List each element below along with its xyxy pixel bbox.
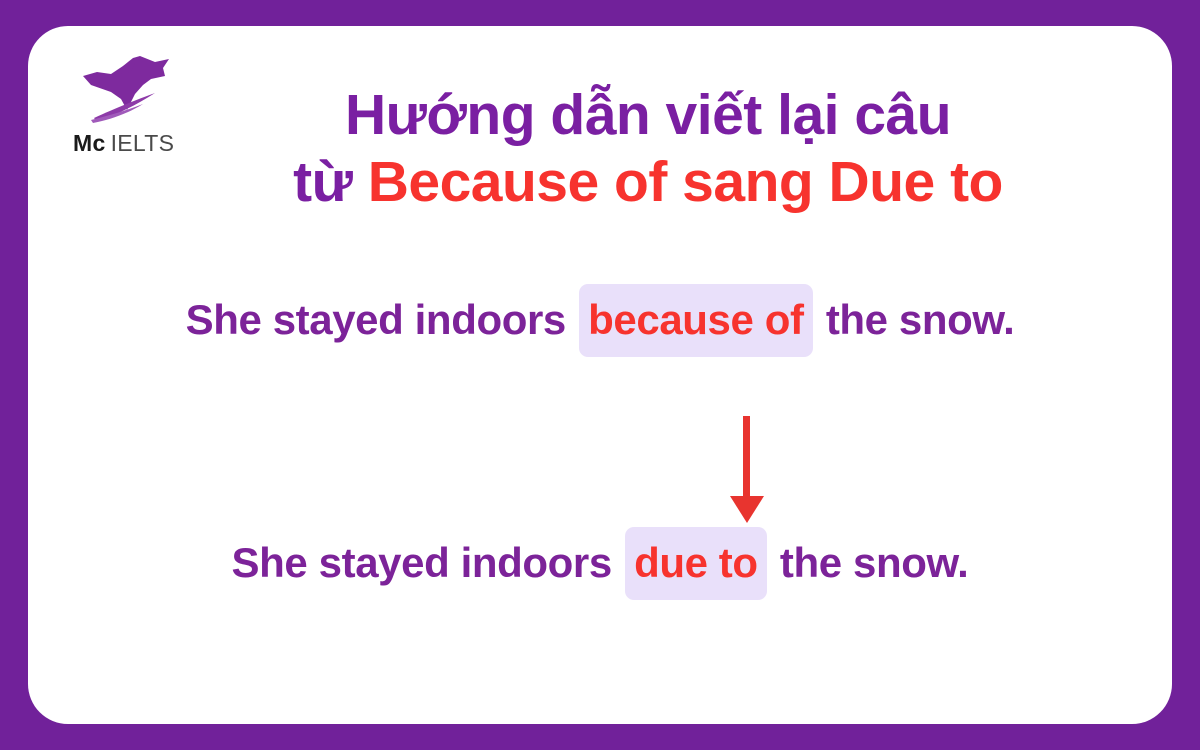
sentence-after-text: She stayed indoors due to the snow.	[28, 539, 1172, 586]
brand-name-bold: Mc	[73, 130, 106, 156]
sentence-before-text: She stayed indoors because of the snow.	[28, 296, 1172, 343]
sentence-after-highlight: due to	[625, 527, 767, 600]
infographic-frame: McIELTS Hướng dẫn viết lại câu từ Becaus…	[0, 0, 1200, 750]
example-sentence-before: She stayed indoors because of the snow.	[28, 296, 1172, 343]
sentence-after-prefix: She stayed indoors	[232, 539, 624, 586]
example-sentence-after: She stayed indoors due to the snow.	[28, 539, 1172, 586]
title-line-2-highlight: Because of sang Due to	[368, 150, 1003, 214]
sentence-before-highlight: because of	[579, 284, 812, 357]
down-arrow-icon	[727, 416, 767, 526]
title-line-2-prefix: từ	[293, 150, 368, 214]
title-line-1: Hướng dẫn viết lại câu	[148, 82, 1148, 149]
sentence-before-prefix: She stayed indoors	[186, 296, 578, 343]
sentence-after-suffix: the snow.	[769, 539, 969, 586]
content-card: McIELTS Hướng dẫn viết lại câu từ Becaus…	[28, 26, 1172, 724]
sentence-before-suffix: the snow.	[815, 296, 1015, 343]
page-title: Hướng dẫn viết lại câu từ Because of san…	[148, 82, 1148, 217]
title-line-2: từ Because of sang Due to	[148, 149, 1148, 216]
